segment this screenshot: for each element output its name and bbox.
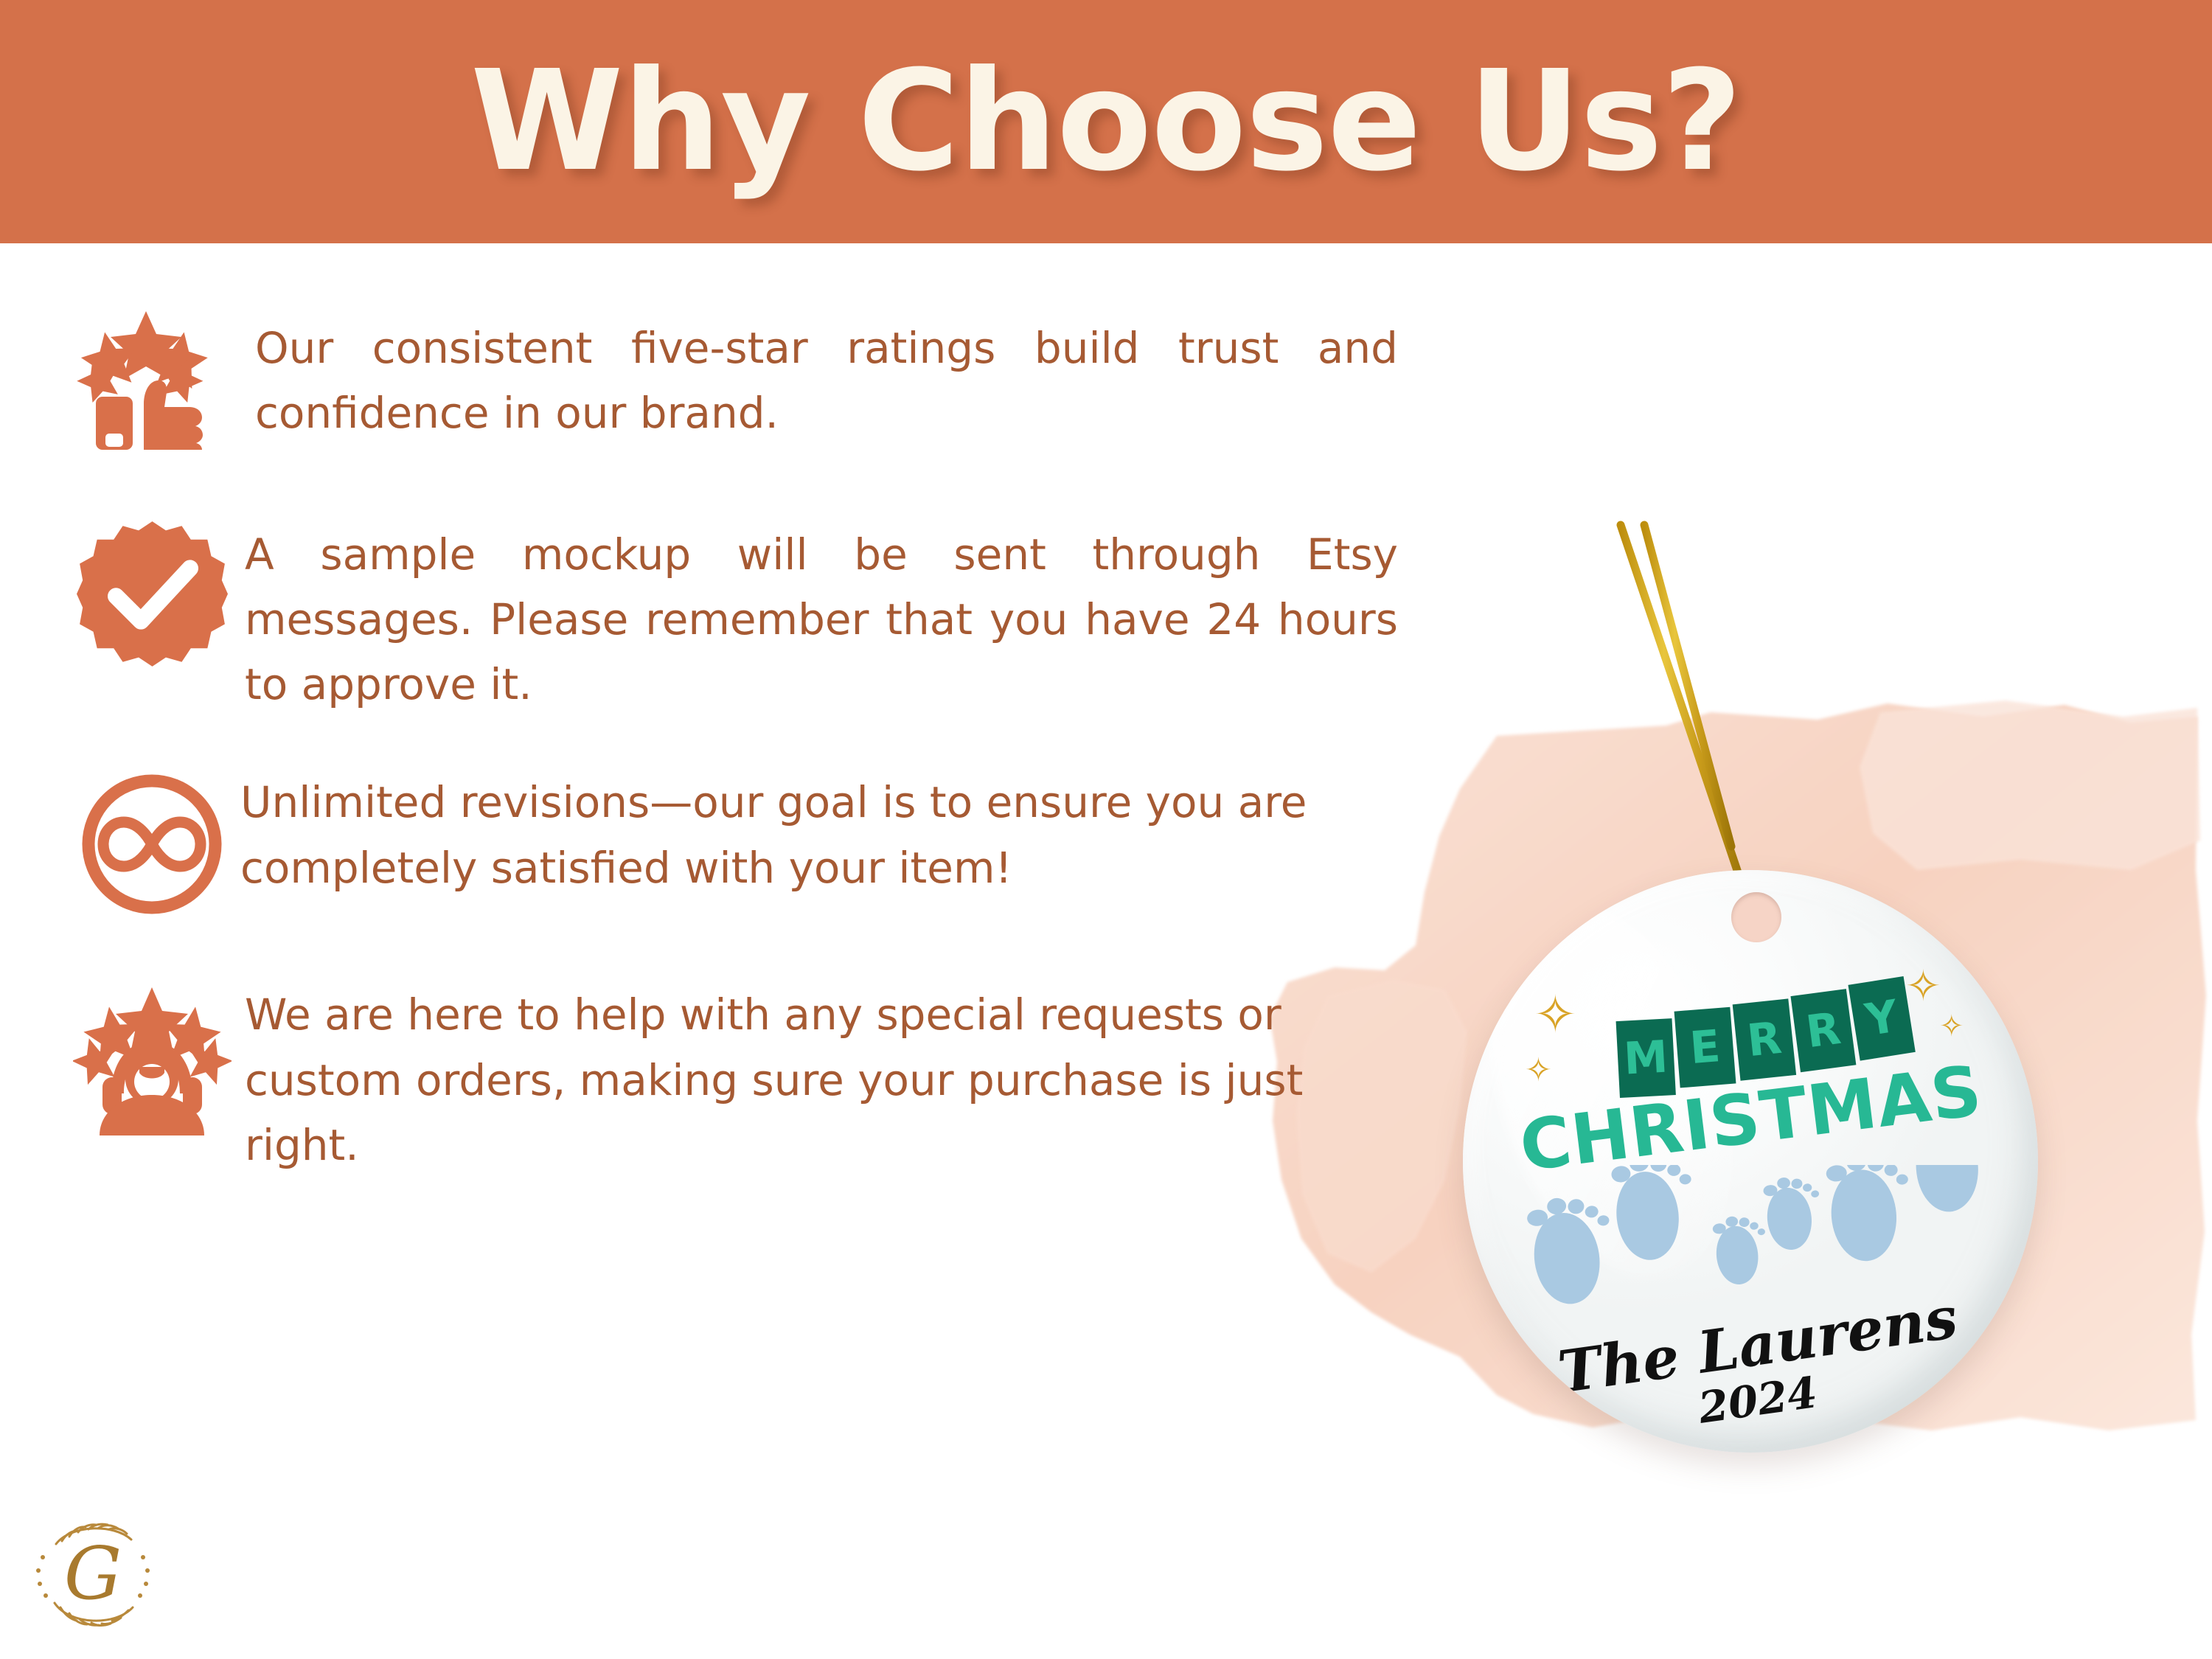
page-header: Why Choose Us? [0, 0, 2212, 243]
feature-item: Unlimited revisions—our goal is to ensur… [0, 759, 1475, 929]
infinity-circle-icon [63, 759, 240, 929]
logo-monogram-letter: G [64, 1532, 122, 1616]
merry-letter-tile: Y [1848, 976, 1915, 1061]
feature-list: Our consistent five-star ratings build t… [0, 295, 1475, 1216]
feature-item: We are here to help with any special req… [0, 975, 1475, 1177]
feature-text: A sample mockup will be sent through Ets… [240, 509, 1398, 717]
feature-text: Unlimited revisions—our goal is to ensur… [240, 759, 1398, 900]
feature-text: We are here to help with any special req… [240, 975, 1398, 1177]
ceramic-ornament-disc: ✧ ✧ ✧ ✧ M E R R Y CHRISTMAS [1463, 870, 2038, 1453]
feature-text: Our consistent five-star ratings build t… [240, 295, 1398, 445]
verified-check-badge-icon [63, 509, 240, 678]
hanger-hole [1731, 892, 1781, 942]
merry-letter-tile: E [1674, 1007, 1736, 1088]
merry-letter-tile: R [1790, 989, 1856, 1072]
customer-support-stars-icon [63, 975, 240, 1144]
five-star-thumbs-up-icon [63, 295, 240, 465]
merry-letter-tile: M [1616, 1018, 1676, 1098]
ornament-product-image: ✧ ✧ ✧ ✧ M E R R Y CHRISTMAS [1445, 516, 2079, 1519]
laurel-wreath-monogram-logo: G [27, 1509, 159, 1641]
merry-letter-tile: R [1733, 998, 1796, 1080]
feature-item: Our consistent five-star ratings build t… [0, 295, 1475, 465]
page-title: Why Choose Us? [470, 52, 1742, 191]
feature-item: A sample mockup will be sent through Ets… [0, 509, 1475, 717]
gold-cord-hanger [1445, 516, 2079, 929]
